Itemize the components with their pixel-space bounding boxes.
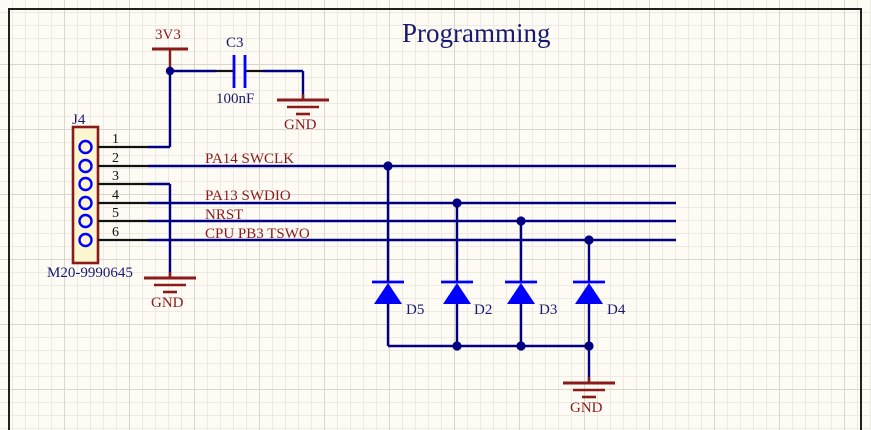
gnd-label-capacitor: GND <box>284 118 317 133</box>
diode-d3[interactable] <box>505 216 537 350</box>
schematic-artwork <box>0 0 871 430</box>
junction-dot-d4-cathode <box>584 235 593 244</box>
diode-designator-d2: D2 <box>474 303 492 318</box>
connector-pin-leads <box>98 147 148 240</box>
diode-designator-d4: D4 <box>607 303 625 318</box>
connector-designator-j4: J4 <box>72 113 85 128</box>
connector-pin-number-5: 5 <box>112 207 119 221</box>
net-label-cpu-pb3-tswo: CPU PB3 TSWO <box>205 227 310 242</box>
net-capacitor-gnd-wires[interactable] <box>263 71 303 100</box>
diode-designator-d3: D3 <box>539 303 557 318</box>
diode-d2-triangle <box>443 283 471 304</box>
gnd-symbol-connector[interactable] <box>144 272 196 292</box>
gnd-label-diode-rail: GND <box>570 401 603 416</box>
net-label-nrst: NRST <box>205 208 243 223</box>
connector-pin-number-4: 4 <box>112 189 119 203</box>
power-label-3v3: 3V3 <box>155 28 181 43</box>
gnd-label-connector: GND <box>151 296 184 311</box>
net-label-pa14-swclk: PA14 SWCLK <box>205 152 294 167</box>
junction-dot-3v3 <box>166 67 174 75</box>
net-pin3-gnd[interactable] <box>148 184 170 278</box>
connector-j4-body[interactable] <box>73 127 98 263</box>
schematic-sheet: Programming 3V3 GND GND GND J4 M20-99906… <box>0 0 871 430</box>
diode-designator-d5: D5 <box>406 303 424 318</box>
connector-pin-number-3: 3 <box>112 170 119 184</box>
diode-d3-triangle <box>507 283 535 304</box>
connector-pin-number-6: 6 <box>112 226 119 240</box>
diode-d5[interactable] <box>372 161 404 346</box>
junction-dot-d3-cathode <box>516 216 525 225</box>
junction-dot-d5-cathode <box>383 161 392 170</box>
junction-dot-d2-cathode <box>452 198 461 207</box>
diode-d4-triangle <box>575 283 603 304</box>
connector-pin-number-2: 2 <box>112 152 119 166</box>
net-3v3-wires[interactable] <box>166 67 216 147</box>
capacitor-c3[interactable] <box>216 55 263 88</box>
sheet-title: Programming <box>402 20 551 47</box>
diode-d4[interactable] <box>573 235 605 350</box>
connector-part-number: M20-9990645 <box>47 266 133 281</box>
connector-pin-number-1: 1 <box>112 133 119 147</box>
net-label-pa13-swdio: PA13 SWDIO <box>205 189 291 204</box>
capacitor-value: 100nF <box>216 92 254 107</box>
gnd-symbol-capacitor[interactable] <box>277 94 329 114</box>
gnd-symbol-diode-rail[interactable] <box>563 377 615 397</box>
diode-d5-triangle <box>374 283 402 304</box>
net-diode-anode-rail[interactable] <box>388 346 589 383</box>
capacitor-designator-c3: C3 <box>226 36 244 51</box>
